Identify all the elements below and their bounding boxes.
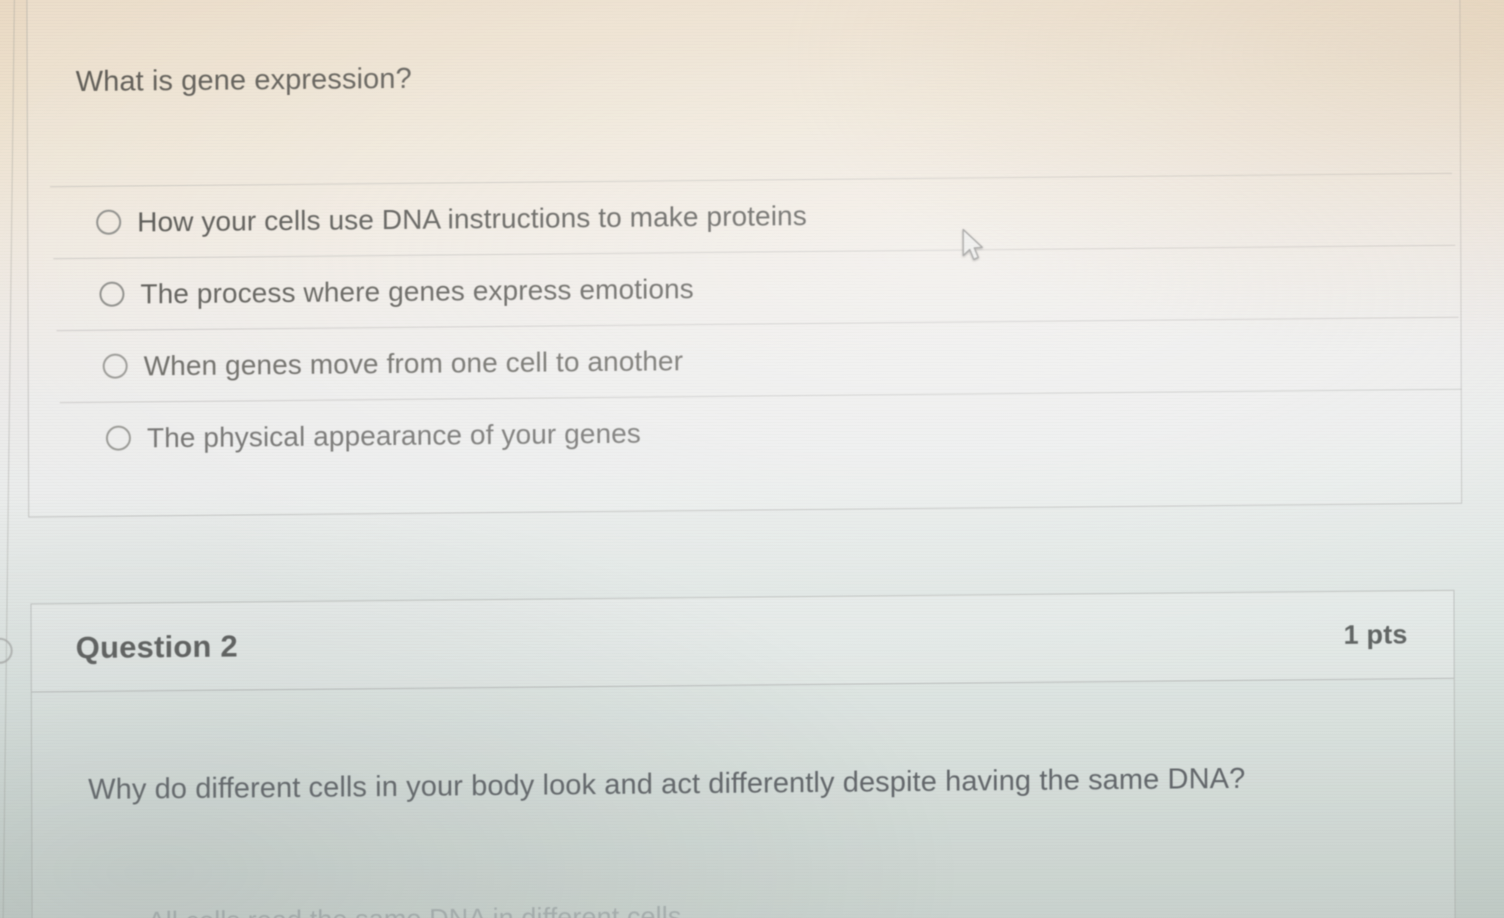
answer-option-label: The physical appearance of your genes [147,417,641,454]
answer-option-1[interactable]: How your cells use DNA instructions to m… [50,173,1452,258]
mouse-pointer-icon [961,228,987,262]
question-2-points: 1 pts [1344,619,1408,651]
answer-option-label: When genes move from one cell to another [144,345,683,382]
quiz-viewport: What is gene expression? How your cells … [0,0,1504,918]
question-2-stem: Why do different cells in your body look… [88,763,1245,807]
question-1-card: What is gene expression? How your cells … [26,0,1462,518]
question-2-header: Question 2 1 pts [32,591,1454,693]
answer-option-2[interactable]: The process where genes express emotions [53,245,1455,330]
radio-button-icon[interactable] [99,282,124,307]
answer-option-4[interactable]: The physical appearance of your genes [60,389,1462,474]
question-2-card: Question 2 1 pts Why do different cells … [31,590,1456,918]
question-1-answer-list: How your cells use DNA instructions to m… [50,173,1453,474]
answer-option-label: The process where genes express emotions [140,273,693,310]
browser-left-frame-line [2,0,16,918]
photographed-screen: What is gene expression? How your cells … [0,0,1504,918]
question-1-stem: What is gene expression? [76,63,412,99]
question-2-title: Question 2 [76,628,238,666]
answer-option-label: How your cells use DNA instructions to m… [137,200,807,238]
radio-button-icon[interactable] [106,426,131,451]
answer-option-3[interactable]: When genes move from one cell to another [57,317,1459,402]
radio-button-icon[interactable] [96,210,121,235]
clipped-radio-button-icon[interactable] [0,638,13,664]
radio-button-icon[interactable] [103,354,128,379]
